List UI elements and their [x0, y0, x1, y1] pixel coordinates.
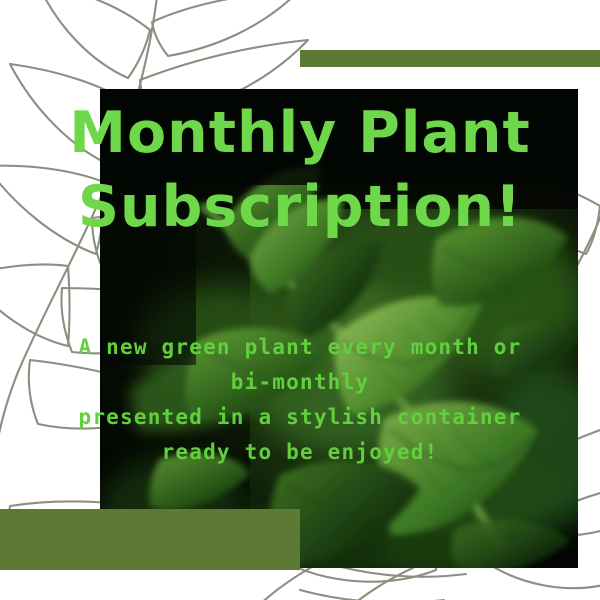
headline-line-2: Subscription! — [0, 170, 600, 244]
olive-accent-bar-bottom — [0, 509, 300, 570]
poster-headline: Monthly Plant Subscription! — [0, 96, 600, 244]
olive-accent-bar-top — [300, 50, 600, 67]
poster-body-copy: A new green plant every month or bi-mont… — [0, 330, 600, 470]
headline-line-1: Monthly Plant — [0, 96, 600, 170]
body-line-1: A new green plant every month or — [0, 330, 600, 365]
body-line-2: bi-monthly — [0, 365, 600, 400]
body-line-3: presented in a stylish container — [0, 400, 600, 435]
poster-canvas: Monthly Plant Subscription! A new green … — [0, 0, 600, 600]
body-line-4: ready to be enjoyed! — [0, 435, 600, 470]
